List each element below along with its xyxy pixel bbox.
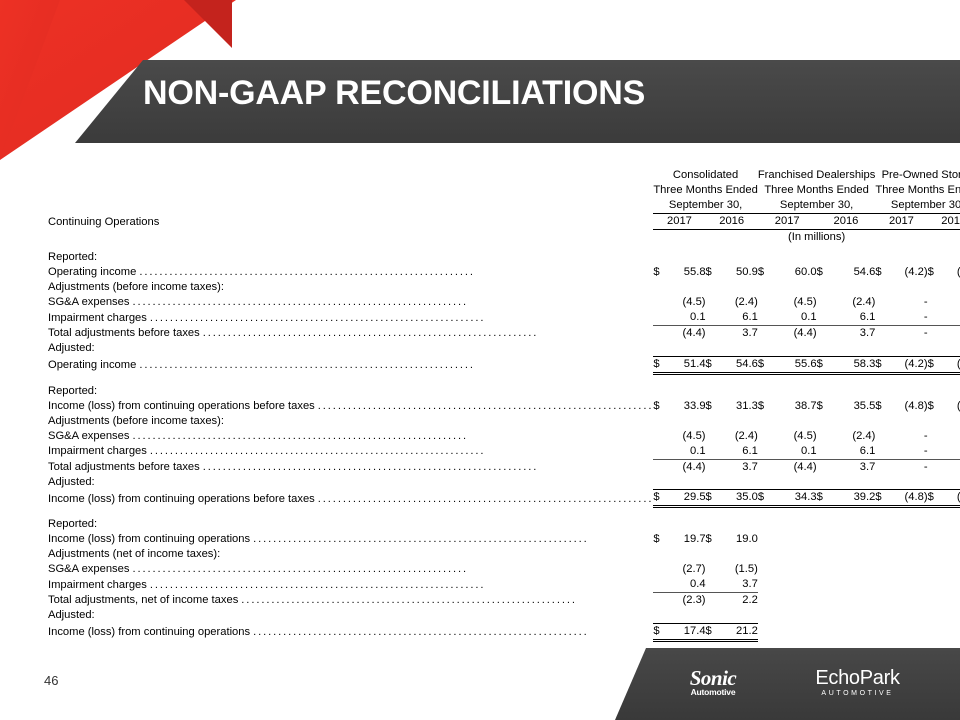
- cell-value: -: [937, 310, 960, 326]
- reported-header-3: Reported:: [48, 517, 653, 532]
- cell-value: 51.4: [663, 356, 706, 373]
- row-label-text: Impairment charges: [48, 311, 147, 326]
- currency-symbol: $: [817, 399, 827, 414]
- currency-symbol: $: [875, 490, 884, 507]
- cell-value: 35.0: [715, 490, 758, 507]
- currency-symbol: $: [706, 265, 715, 280]
- row-label-text: Income (loss) from continuing operations: [48, 532, 250, 547]
- currency-symbol: $: [758, 265, 768, 280]
- cell-value: 55.8: [663, 265, 706, 280]
- spacer-cell: [48, 230, 653, 246]
- table-header-group-row-2: Three Months Ended Three Months Ended Th…: [48, 183, 960, 198]
- year-header-preowned-2016: 2016: [928, 214, 960, 230]
- cell-value: 6.1: [715, 444, 758, 460]
- table-row: Impairment charges......................…: [48, 310, 960, 326]
- row-label-text: Income (loss) from continuing operations…: [48, 492, 315, 507]
- cell-value: (4.2): [885, 265, 928, 280]
- table-row-adjusted: Operating income........................…: [48, 356, 960, 373]
- row-label-text: Income (loss) from continuing operations…: [48, 399, 315, 414]
- currency-symbol: $: [817, 490, 827, 507]
- row-label-sga-expenses: SG&A expenses...........................…: [48, 562, 653, 577]
- row-label-impairment-charges: Impairment charges......................…: [48, 310, 653, 326]
- cell-value: (4.4): [663, 326, 706, 342]
- table-row-adjusted: Income (loss) from continuing operations…: [48, 490, 960, 507]
- currency-symbol: $: [758, 490, 768, 507]
- spacer-cell: [48, 183, 653, 198]
- table-header-year-row: Continuing Operations 2017 2016 2017 201…: [48, 214, 960, 230]
- table-header-group-row-3: September 30, September 30, September 30…: [48, 198, 960, 214]
- table-row: Income (loss) from continuing operations…: [48, 399, 960, 414]
- spacer-row: [48, 373, 960, 384]
- echopark-automotive-logo: EchoPark AUTOMOTIVE: [795, 668, 920, 698]
- cell-value: (2.4): [827, 429, 876, 444]
- row-label-operating-income-adjusted: Operating income........................…: [48, 356, 653, 373]
- currency-symbol: $: [653, 532, 662, 547]
- group-header-consolidated-date: September 30,: [653, 198, 757, 214]
- cell-value: (4.5): [768, 295, 817, 310]
- cell-value: 0.1: [768, 310, 817, 326]
- reported-header-2: Reported:: [48, 384, 653, 399]
- echopark-logo-main-text: EchoPark: [795, 668, 920, 689]
- table-row-total: Total adjustments, net of income taxes..…: [48, 593, 960, 609]
- cell-value: -: [937, 429, 960, 444]
- row-label-operating-income-reported: Operating income........................…: [48, 265, 653, 280]
- cell-value: 3.7: [827, 459, 876, 475]
- row-label-text: Total adjustments before taxes: [48, 460, 200, 475]
- cell-value: 29.5: [663, 490, 706, 507]
- row-label-text: Total adjustments before taxes: [48, 326, 200, 341]
- adjusted-header-2: Adjusted:: [48, 475, 653, 490]
- year-header-franchised-2017: 2017: [758, 214, 817, 230]
- currency-symbol: $: [653, 490, 662, 507]
- row-label-text: Impairment charges: [48, 444, 147, 459]
- group-header-franchised-period: Three Months Ended: [758, 183, 876, 198]
- cell-value: 54.6: [715, 356, 758, 373]
- adjusted-header-1: Adjusted:: [48, 341, 653, 356]
- section-reported-header: Reported:: [48, 384, 960, 399]
- table-header-group-row-1: Consolidated Franchised Dealerships Pre-…: [48, 168, 960, 183]
- leader-dots: ........................................…: [150, 578, 653, 593]
- cell-value: -: [885, 326, 928, 342]
- leader-dots: ........................................…: [132, 562, 653, 577]
- cell-value: 54.6: [827, 265, 876, 280]
- section-reported-header: Reported:: [48, 250, 960, 265]
- cell-value: (3.7): [937, 265, 960, 280]
- currency-symbol: $: [653, 265, 662, 280]
- cell-value: 39.2: [827, 490, 876, 507]
- section-adjusted-header: Adjusted:: [48, 341, 960, 356]
- units-note-row: (In millions): [48, 230, 960, 246]
- leader-dots: ........................................…: [253, 532, 653, 547]
- row-label-text: Income (loss) from continuing operations: [48, 625, 250, 640]
- section-adjusted-header: Adjusted:: [48, 608, 960, 623]
- table-row-adjusted: Income (loss) from continuing operations…: [48, 623, 960, 640]
- leader-dots: ........................................…: [139, 358, 653, 373]
- spacer-cell: [48, 168, 653, 183]
- currency-symbol: $: [875, 356, 884, 373]
- cell-value: (4.4): [768, 326, 817, 342]
- cell-value: (4.4): [768, 459, 817, 475]
- sonic-automotive-logo: Sonic Automotive: [667, 668, 759, 697]
- currency-symbol: $: [706, 623, 715, 640]
- cell-value: -: [937, 326, 960, 342]
- leader-dots: ........................................…: [132, 295, 653, 310]
- currency-symbol: $: [928, 399, 937, 414]
- currency-symbol: $: [653, 399, 662, 414]
- row-label-sga-expenses: SG&A expenses...........................…: [48, 295, 653, 310]
- cell-value: -: [937, 444, 960, 460]
- table-row: Impairment charges......................…: [48, 444, 960, 460]
- echopark-logo-sub-text: AUTOMOTIVE: [795, 689, 920, 698]
- table-row-total: Total adjustments before taxes..........…: [48, 459, 960, 475]
- cell-value: 34.3: [768, 490, 817, 507]
- cell-value: 6.1: [827, 444, 876, 460]
- table-row: Income (loss) from continuing operations…: [48, 532, 960, 547]
- row-label-text: Operating income: [48, 358, 136, 373]
- cell-value: 55.6: [768, 356, 817, 373]
- cell-value: 3.7: [715, 326, 758, 342]
- units-note: (In millions): [653, 230, 960, 246]
- year-header-consolidated-2016: 2016: [706, 214, 758, 230]
- row-label-sga-expenses: SG&A expenses...........................…: [48, 429, 653, 444]
- cell-value: 50.9: [715, 265, 758, 280]
- group-header-consolidated: Consolidated: [653, 168, 757, 183]
- currency-symbol: $: [758, 356, 768, 373]
- row-label-income-before-taxes-adjusted: Income (loss) from continuing operations…: [48, 490, 653, 507]
- row-label-income-before-taxes-reported: Income (loss) from continuing operations…: [48, 399, 653, 414]
- row-label-impairment-charges: Impairment charges......................…: [48, 577, 653, 593]
- non-gaap-reconciliation-table: Consolidated Franchised Dealerships Pre-…: [48, 168, 960, 642]
- currency-symbol: $: [758, 399, 768, 414]
- leader-dots: ........................................…: [318, 492, 654, 507]
- cell-value: 6.1: [715, 310, 758, 326]
- currency-symbol: $: [653, 356, 662, 373]
- section-adjustments-header: Adjustments (net of income taxes):: [48, 547, 960, 562]
- currency-symbol: $: [706, 399, 715, 414]
- section-adjustments-header: Adjustments (before income taxes):: [48, 414, 960, 429]
- row-label-text: Impairment charges: [48, 578, 147, 593]
- table-row: Impairment charges......................…: [48, 577, 960, 593]
- section-reported-header: Reported:: [48, 517, 960, 532]
- currency-symbol: $: [706, 490, 715, 507]
- leader-dots: ........................................…: [132, 429, 653, 444]
- sonic-logo-sub-text: Automotive: [667, 688, 759, 697]
- currency-symbol: $: [706, 356, 715, 373]
- cell-value: (4.2): [937, 399, 960, 414]
- cell-value: -: [885, 310, 928, 326]
- row-label-header: Continuing Operations: [48, 214, 653, 230]
- row-label-total-adjustments: Total adjustments before taxes..........…: [48, 326, 653, 342]
- cell-value: -: [885, 459, 928, 475]
- currency-symbol: $: [817, 265, 827, 280]
- cell-value: 3.7: [827, 326, 876, 342]
- spacer-row: [48, 507, 960, 518]
- row-label-income-continuing-reported: Income (loss) from continuing operations…: [48, 532, 653, 547]
- row-label-impairment-charges: Impairment charges......................…: [48, 444, 653, 460]
- cell-value: (4.2): [885, 356, 928, 373]
- cell-value: 0.1: [663, 310, 706, 326]
- cell-value: (4.2): [937, 490, 960, 507]
- cell-value: -: [937, 295, 960, 310]
- year-header-consolidated-2017: 2017: [653, 214, 705, 230]
- row-label-text: Operating income: [48, 265, 136, 280]
- cell-value: (4.5): [663, 295, 706, 310]
- row-label-income-continuing-adjusted: Income (loss) from continuing operations…: [48, 623, 653, 640]
- currency-symbol: $: [817, 356, 827, 373]
- cell-value: 17.4: [663, 623, 706, 640]
- cell-value: -: [937, 459, 960, 475]
- cell-value: 35.5: [827, 399, 876, 414]
- cell-value: 19.7: [663, 532, 706, 547]
- adjusted-header-3: Adjusted:: [48, 608, 653, 623]
- table-row-total: Total adjustments before taxes..........…: [48, 326, 960, 342]
- cell-value: 6.1: [827, 310, 876, 326]
- leader-dots: ........................................…: [150, 444, 653, 459]
- cell-value: 0.1: [768, 444, 817, 460]
- cell-value: 38.7: [768, 399, 817, 414]
- cell-value: (4.4): [663, 459, 706, 475]
- cell-value: (4.5): [663, 429, 706, 444]
- cell-value: (2.4): [715, 295, 758, 310]
- cell-value: 3.7: [715, 577, 758, 593]
- table-row: SG&A expenses...........................…: [48, 295, 960, 310]
- cell-value: -: [885, 444, 928, 460]
- cell-value: 60.0: [768, 265, 817, 280]
- cell-value: 21.2: [715, 623, 758, 640]
- row-label-text: SG&A expenses: [48, 429, 129, 444]
- year-header-preowned-2017: 2017: [875, 214, 927, 230]
- leader-dots: ........................................…: [203, 460, 654, 475]
- cell-value: 0.4: [663, 577, 706, 593]
- cell-value: (3.7): [937, 356, 960, 373]
- row-label-text: SG&A expenses: [48, 562, 129, 577]
- financial-table-container: Consolidated Franchised Dealerships Pre-…: [0, 168, 960, 642]
- adjustments-header-3: Adjustments (net of income taxes):: [48, 547, 653, 562]
- cell-value: (1.5): [715, 562, 758, 577]
- group-header-franchised-date: September 30,: [758, 198, 876, 214]
- row-label-text: Total adjustments, net of income taxes: [48, 593, 238, 608]
- table-row: SG&A expenses...........................…: [48, 562, 960, 577]
- section-adjustments-header: Adjustments (before income taxes):: [48, 280, 960, 295]
- cell-value: 3.7: [715, 459, 758, 475]
- cell-value: -: [885, 295, 928, 310]
- leader-dots: ........................................…: [253, 625, 653, 640]
- group-header-preowned-date: September 30,: [875, 198, 960, 214]
- row-label-text: SG&A expenses: [48, 295, 129, 310]
- table-row: SG&A expenses...........................…: [48, 429, 960, 444]
- cell-value: (4.5): [768, 429, 817, 444]
- currency-symbol: $: [706, 532, 715, 547]
- spacer-cell: [48, 198, 653, 214]
- section-adjusted-header: Adjusted:: [48, 475, 960, 490]
- cell-value: 19.0: [715, 532, 758, 547]
- cell-value: (2.4): [715, 429, 758, 444]
- sonic-logo-main-text: Sonic: [667, 668, 759, 688]
- cell-value: 31.3: [715, 399, 758, 414]
- cell-value: (4.8): [885, 490, 928, 507]
- currency-symbol: $: [875, 399, 884, 414]
- currency-symbol: $: [928, 490, 937, 507]
- leader-dots: ........................................…: [139, 265, 653, 280]
- currency-symbol: $: [928, 265, 937, 280]
- table-row: Operating income........................…: [48, 265, 960, 280]
- group-header-preowned: Pre-Owned Stores: [875, 168, 960, 183]
- cell-value: 58.3: [827, 356, 876, 373]
- cell-value: 0.1: [663, 444, 706, 460]
- currency-symbol: $: [653, 623, 662, 640]
- reported-header-1: Reported:: [48, 250, 653, 265]
- year-header-franchised-2016: 2016: [817, 214, 876, 230]
- group-header-preowned-period: Three Months Ended: [875, 183, 960, 198]
- group-header-consolidated-period: Three Months Ended: [653, 183, 757, 198]
- cell-value: 2.2: [715, 593, 758, 609]
- leader-dots: ........................................…: [150, 311, 653, 326]
- currency-symbol: $: [928, 356, 937, 373]
- leader-dots: ........................................…: [203, 326, 654, 341]
- cell-value: (2.4): [827, 295, 876, 310]
- page-number: 46: [44, 673, 58, 688]
- cell-value: (2.3): [663, 593, 706, 609]
- row-label-total-adjustments-net: Total adjustments, net of income taxes..…: [48, 593, 653, 609]
- group-header-franchised: Franchised Dealerships: [758, 168, 876, 183]
- currency-symbol: $: [875, 265, 884, 280]
- row-label-total-adjustments: Total adjustments before taxes..........…: [48, 459, 653, 475]
- page-title: NON-GAAP RECONCILIATIONS: [143, 74, 645, 113]
- leader-dots: ........................................…: [318, 399, 654, 414]
- adjustments-header-2: Adjustments (before income taxes):: [48, 414, 653, 429]
- cell-value: -: [885, 429, 928, 444]
- adjustments-header-1: Adjustments (before income taxes):: [48, 280, 653, 295]
- leader-dots: ........................................…: [241, 593, 653, 608]
- cell-value: 33.9: [663, 399, 706, 414]
- cell-value: (4.8): [885, 399, 928, 414]
- cell-value: (2.7): [663, 562, 706, 577]
